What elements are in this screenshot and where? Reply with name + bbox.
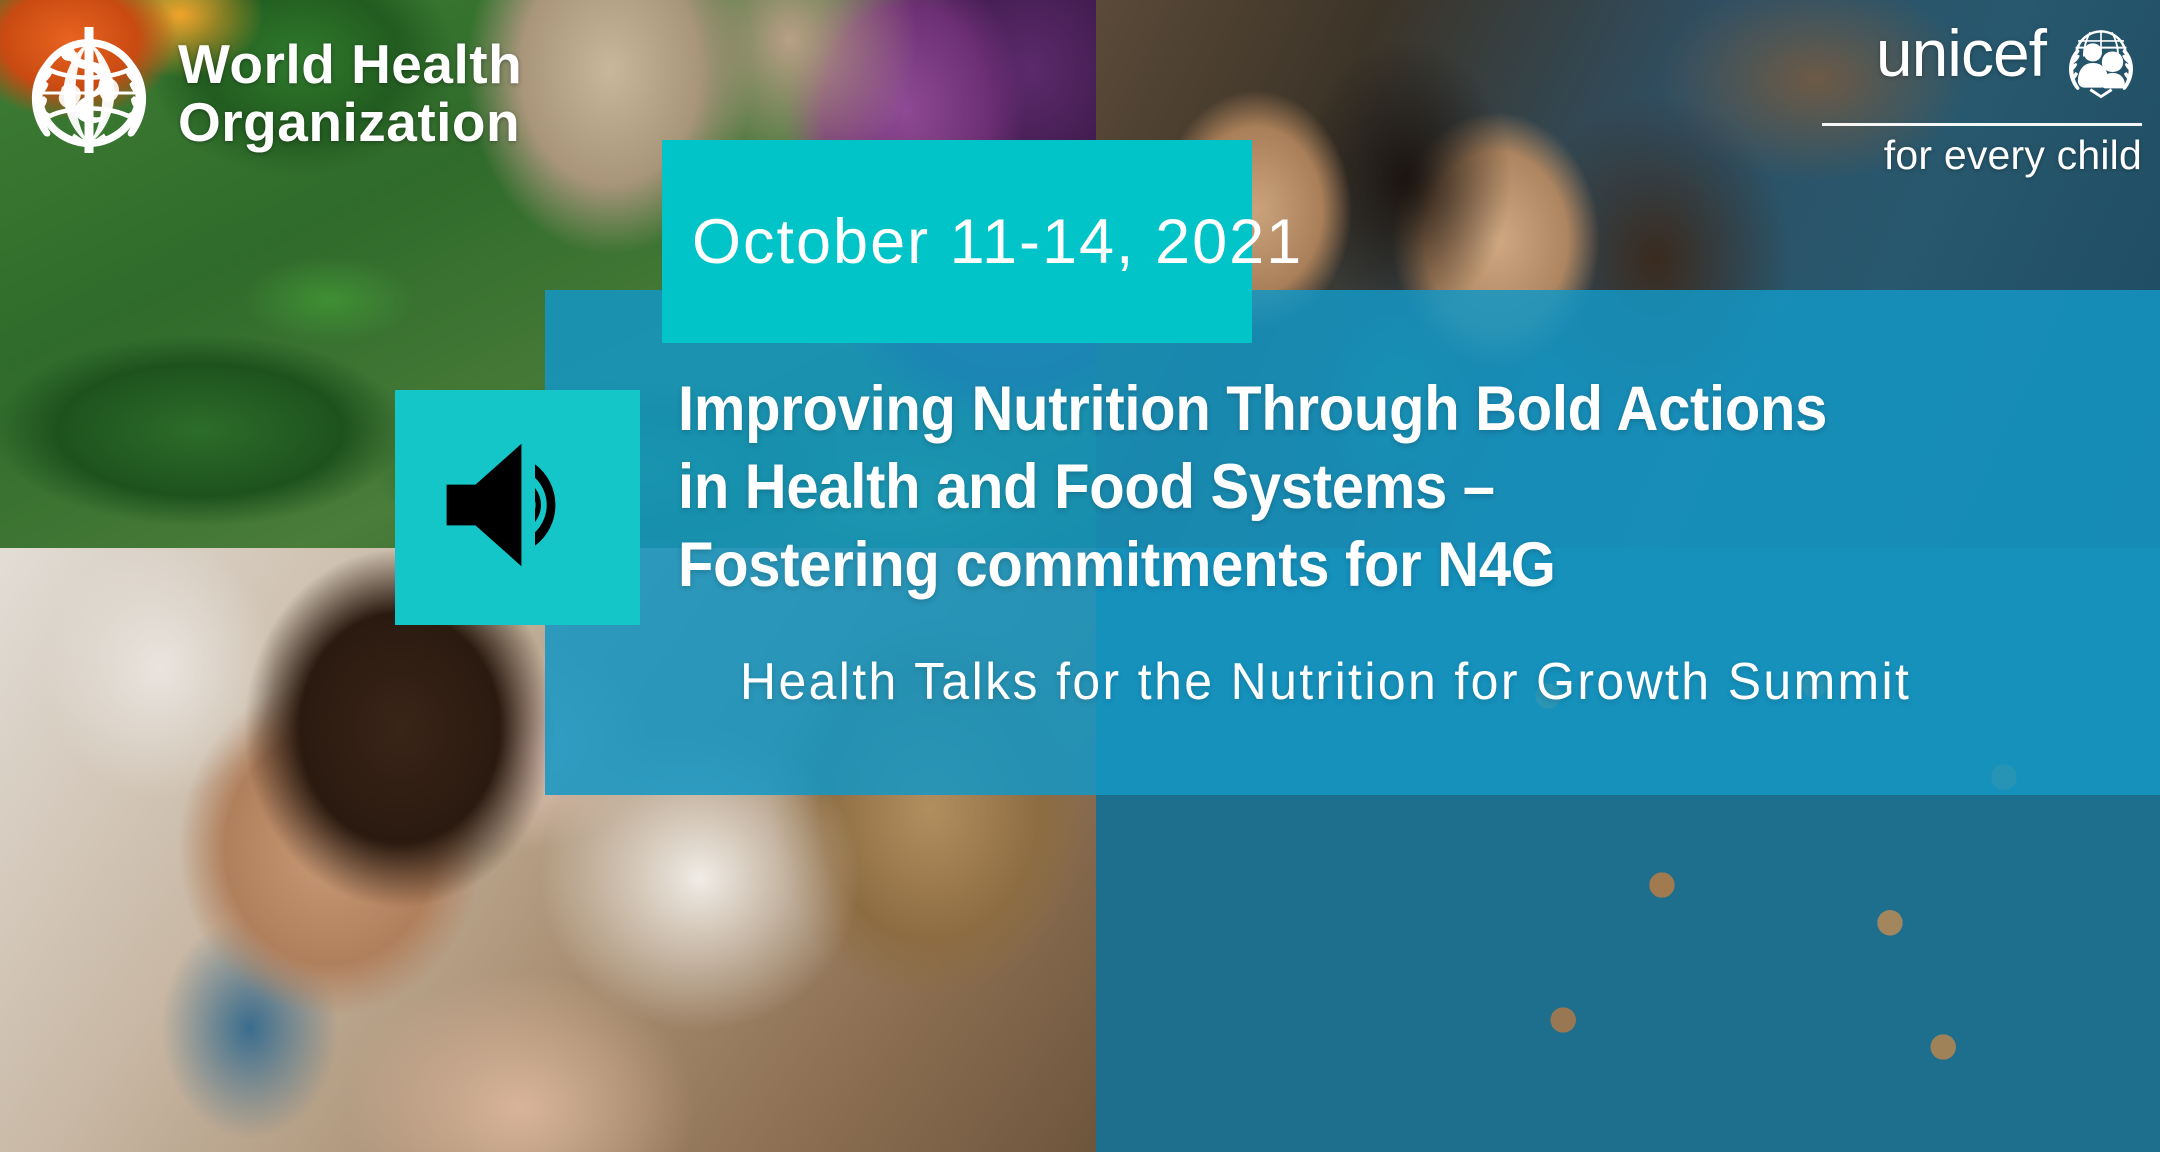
who-wordmark-line1: World Health <box>178 35 522 93</box>
speaker-sound-icon <box>433 420 603 595</box>
audio-icon-tile[interactable] <box>395 390 640 625</box>
page-title: Improving Nutrition Through Bold Actions… <box>678 370 1984 604</box>
title-line-3: Fostering commitments for N4G <box>678 526 1984 604</box>
title-line-2: in Health and Food Systems – <box>678 448 1984 526</box>
who-wordmark: World Health Organization <box>178 35 522 151</box>
headline-block: Improving Nutrition Through Bold Actions… <box>678 370 2098 712</box>
title-line-1: Improving Nutrition Through Bold Actions <box>678 370 1984 448</box>
unicef-wordmark: unicef <box>1876 22 2046 84</box>
unicef-emblem-icon <box>2060 22 2142 109</box>
who-emblem-icon <box>14 18 164 168</box>
who-wordmark-line2: Organization <box>178 93 522 151</box>
unicef-logo: unicef <box>1822 22 2142 178</box>
who-logo: World Health Organization <box>14 18 522 168</box>
unicef-divider <box>1822 123 2142 126</box>
event-banner: World Health Organization unicef <box>0 0 2160 1152</box>
unicef-tagline: for every child <box>1822 132 2142 178</box>
date-banner: October 11-14, 2021 <box>662 140 1252 343</box>
event-date: October 11-14, 2021 <box>662 206 1303 278</box>
page-subtitle: Health Talks for the Nutrition for Growt… <box>740 652 2044 712</box>
